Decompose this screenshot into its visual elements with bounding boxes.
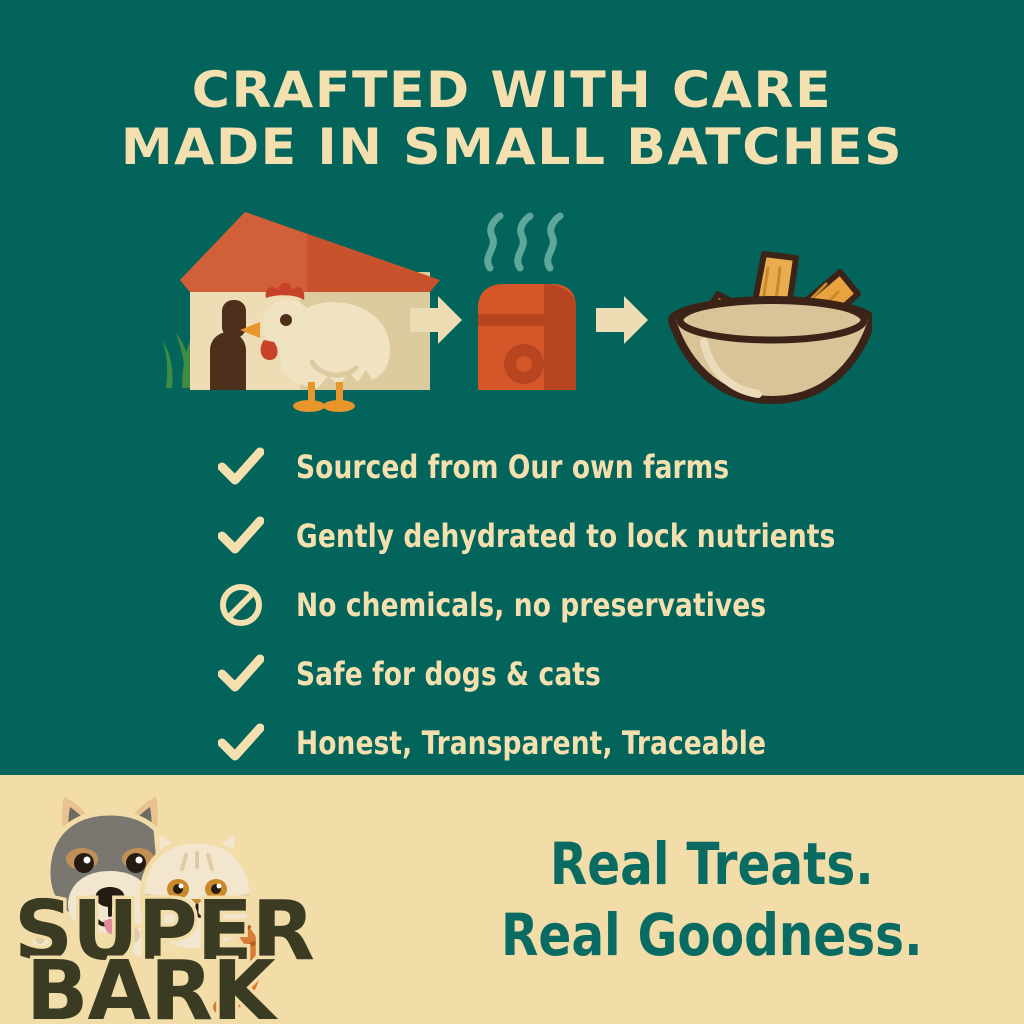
process-svg — [152, 210, 872, 420]
tagline-line-1: Real Treats. — [441, 829, 982, 900]
brand-logo: SUPER BARK — [0, 775, 420, 1024]
list-item: Honest, Transparent, Traceable — [212, 714, 912, 772]
dehydrator-body-shade — [544, 284, 576, 390]
bowl-of-treats — [672, 254, 872, 400]
list-item: Gently dehydrated to lock nutrients — [212, 507, 912, 565]
brand-footer: SUPER BARK Real Treats. Real Goodness. — [0, 775, 1024, 1024]
tagline-line-2: Real Goodness. — [441, 900, 982, 971]
dehydrator-lid-line — [478, 314, 576, 326]
brand-logo-svg: SUPER BARK — [0, 775, 420, 1024]
page-title: CRAFTED WITH CARE MADE IN SMALL BATCHES — [0, 62, 1024, 175]
check-icon — [212, 723, 270, 763]
feature-list: Sourced from Our own farms Gently dehydr… — [212, 438, 912, 783]
heading-line-1: CRAFTED WITH CARE — [0, 62, 1024, 119]
promo-poster: CRAFTED WITH CARE MADE IN SMALL BATCHES — [0, 0, 1024, 1024]
check-icon — [212, 447, 270, 487]
steam-icon — [488, 216, 560, 268]
house-roof-light — [180, 212, 307, 292]
list-item-label: Honest, Transparent, Traceable — [296, 724, 766, 762]
farm-house-with-chicken — [162, 212, 440, 412]
list-item: No chemicals, no preservatives — [212, 576, 912, 634]
list-item: Sourced from Our own farms — [212, 438, 912, 496]
check-icon — [212, 654, 270, 694]
process-illustration — [0, 210, 1024, 420]
arrow-right-icon-2 — [596, 296, 648, 344]
heading-line-2: MADE IN SMALL BATCHES — [0, 119, 1024, 176]
no-entry-icon — [212, 582, 270, 628]
dehydrator-knob-center — [516, 356, 532, 372]
house-door — [210, 332, 246, 390]
tagline: Real Treats. Real Goodness. — [441, 829, 1003, 971]
dehydrator-machine — [478, 216, 576, 390]
list-item-label: Sourced from Our own farms — [296, 448, 729, 486]
list-item-label: Gently dehydrated to lock nutrients — [296, 517, 835, 555]
check-icon — [212, 516, 270, 556]
list-item-label: No chemicals, no preservatives — [296, 586, 766, 624]
brand-name-line-2: BARK — [26, 944, 279, 1024]
list-item-label: Safe for dogs & cats — [296, 655, 601, 693]
list-item: Safe for dogs & cats — [212, 645, 912, 703]
